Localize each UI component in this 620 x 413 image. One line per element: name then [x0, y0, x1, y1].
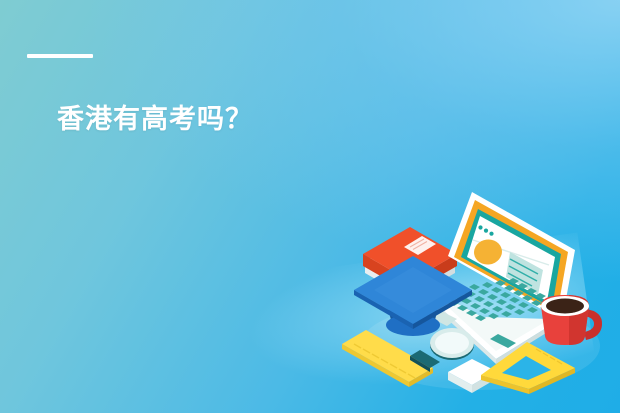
title-divider	[27, 54, 93, 58]
promo-banner: 香港有高考吗？	[0, 0, 620, 413]
page-title: 香港有高考吗？	[57, 103, 253, 135]
coffee-mug-icon	[541, 295, 602, 345]
isometric-study-desk-illustration	[330, 178, 620, 413]
